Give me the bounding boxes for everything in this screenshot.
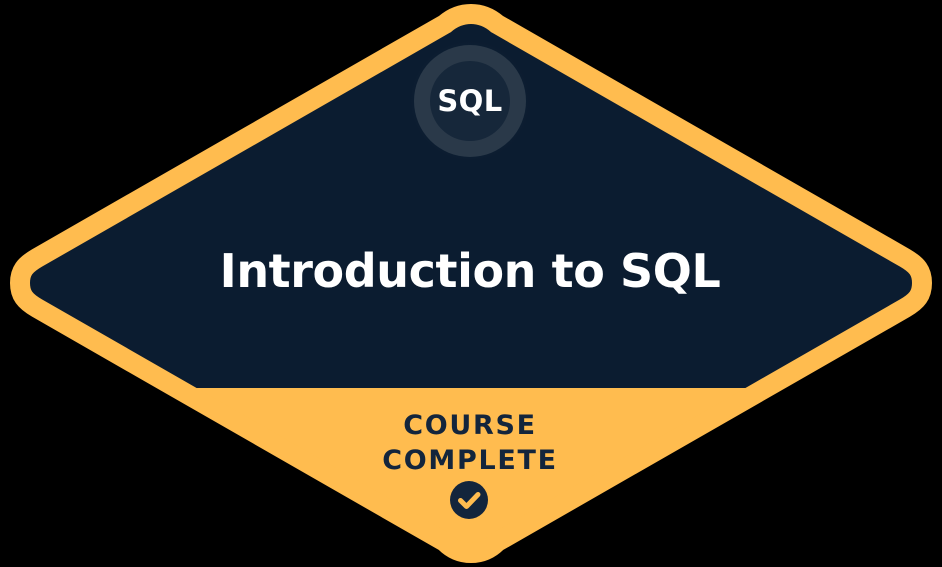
check-icon-background — [450, 481, 488, 519]
check-circle-icon — [450, 481, 488, 519]
course-completion-badge: SQL Introduction to SQL COURSE COMPLETE — [0, 0, 942, 567]
course-title: Introduction to SQL — [220, 244, 721, 298]
logo-label: SQL — [437, 84, 502, 118]
badge-graphic: SQL Introduction to SQL COURSE COMPLETE — [0, 0, 942, 567]
status-line-two: COMPLETE — [382, 445, 558, 476]
status-line-one: COURSE — [403, 410, 537, 441]
